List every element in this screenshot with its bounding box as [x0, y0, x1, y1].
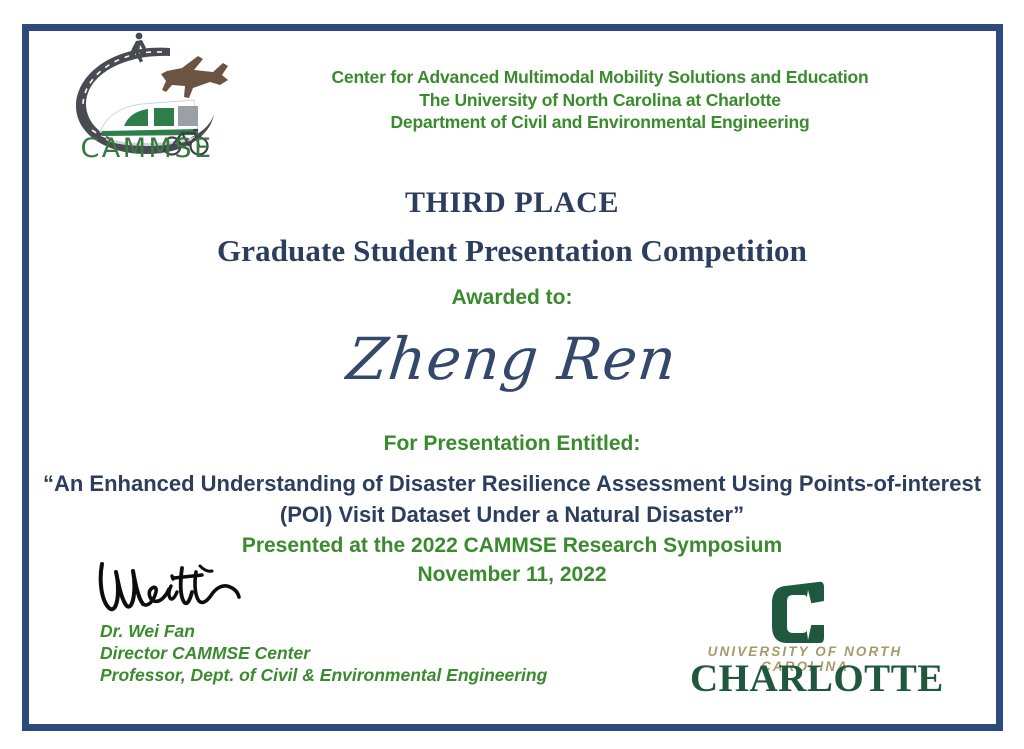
presentation-title-line1: “An Enhanced Understanding of Disaster R… — [32, 468, 992, 499]
award-rank: THIRD PLACE — [0, 186, 1024, 220]
signer-title-director: Director CAMMSE Center — [100, 642, 720, 664]
signer-block: Dr. Wei Fan Director CAMMSE Center Profe… — [100, 620, 720, 686]
awarded-to-label: Awarded to: — [0, 286, 1024, 310]
signer-name: Dr. Wei Fan — [100, 620, 720, 642]
header-line-center: Center for Advanced Multimodal Mobility … — [200, 66, 1000, 89]
header-line-department: Department of Civil and Environmental En… — [200, 111, 1000, 134]
award-competition: Graduate Student Presentation Competitio… — [0, 233, 1024, 269]
header-block: Center for Advanced Multimodal Mobility … — [200, 66, 1000, 134]
unc-charlotte-wordmark: CHARLOTTE — [690, 656, 920, 701]
presentation-title-line2: (POI) Visit Dataset Under a Natural Disa… — [32, 499, 992, 530]
signature-icon — [96, 556, 246, 618]
header-line-university: The University of North Carolina at Char… — [200, 89, 1000, 112]
signer-title-professor: Professor, Dept. of Civil & Environmenta… — [100, 664, 720, 686]
certificate-page: CAMMSE Center for Advanced Multimodal Mo… — [0, 0, 1024, 749]
for-presentation-label: For Presentation Entitled: — [0, 432, 1024, 456]
recipient-name: Zheng Ren — [0, 325, 1024, 393]
cammse-wordmark: CAMMSE — [62, 133, 232, 164]
unc-crown-c-icon — [690, 580, 920, 646]
presentation-title: “An Enhanced Understanding of Disaster R… — [32, 468, 992, 530]
unc-charlotte-logo: UNIVERSITY OF NORTH CAROLINA CHARLOTTE — [690, 580, 920, 692]
